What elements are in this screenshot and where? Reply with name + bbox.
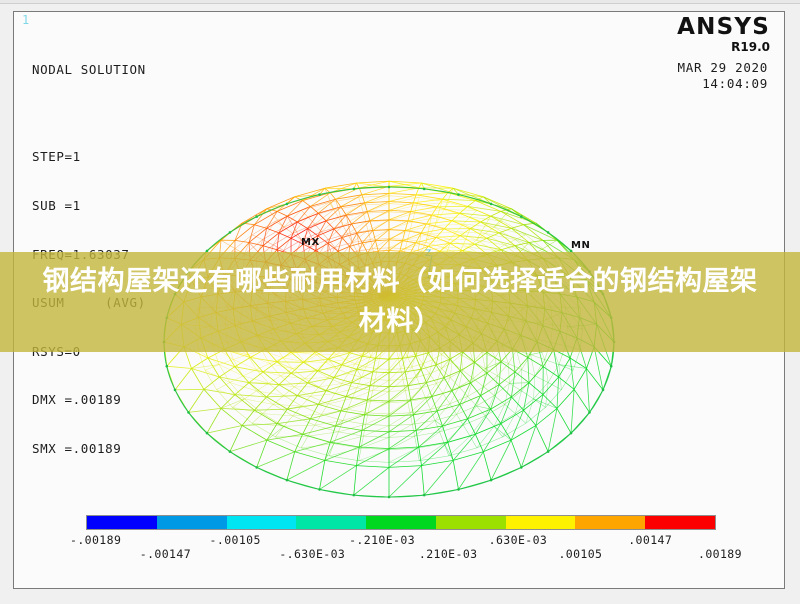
contour-legend: -.00189-.00105-.210E-03.630E-03.00147 -.… <box>86 515 726 560</box>
legend-band-8 <box>575 516 645 529</box>
plot-date: MAR 29 2020 <box>678 60 768 76</box>
legend-band-6 <box>436 516 506 529</box>
legend-labels-top: -.00189-.00105-.210E-03.630E-03.00147 <box>86 533 726 546</box>
legend-label-bottom-2: -.630E-03 <box>279 547 345 561</box>
legend-band-9 <box>645 516 715 529</box>
banner-title-text: 钢结构屋架还有哪些耐用材料（如何选择适合的钢结构屋架材料） <box>30 262 770 342</box>
legend-label-top-1: -.00189 <box>70 533 121 547</box>
legend-band-5 <box>366 516 436 529</box>
legend-labels-bottom: -.00147-.630E-03.210E-03.00105.00189 <box>86 547 726 560</box>
plot-index-label: 1 <box>22 14 29 26</box>
plot-time: 14:04:09 <box>678 76 768 92</box>
legend-label-bottom-4: .00105 <box>558 547 602 561</box>
legend-label-top-3: -.210E-03 <box>349 533 415 547</box>
ansys-wordmark: ANSYS <box>677 16 770 39</box>
ansys-logo: ANSYS R19.0 <box>677 16 770 54</box>
legend-band-1 <box>87 516 157 529</box>
max-node-label: MX <box>301 237 320 248</box>
legend-label-bottom-5: .00189 <box>698 547 742 561</box>
overlay-title-banner: 钢结构屋架还有哪些耐用材料（如何选择适合的钢结构屋架材料） <box>0 252 800 352</box>
legend-label-bottom-3: .210E-03 <box>419 547 478 561</box>
info-title: NODAL SOLUTION <box>32 62 146 78</box>
legend-band-2 <box>157 516 227 529</box>
info-line-sub: SUB =1 <box>32 198 146 214</box>
legend-label-bottom-1: -.00147 <box>140 547 191 561</box>
legend-color-bar <box>86 515 716 530</box>
top-divider-line <box>0 3 800 4</box>
info-line-step: STEP=1 <box>32 149 146 165</box>
ansys-revision: R19.0 <box>677 40 770 54</box>
legend-label-top-2: -.00105 <box>210 533 261 547</box>
legend-band-7 <box>506 516 576 529</box>
min-node-label: MN <box>571 240 590 251</box>
legend-band-4 <box>296 516 366 529</box>
info-line-smx: SMX =.00189 <box>32 441 146 457</box>
legend-label-top-5: .00147 <box>628 533 672 547</box>
ansys-screenshot: 1 NODAL SOLUTION STEP=1 SUB =1 FREQ=1.63… <box>0 0 800 604</box>
legend-band-3 <box>227 516 297 529</box>
info-line-dmx: DMX =.00189 <box>32 392 146 408</box>
legend-label-top-4: .630E-03 <box>489 533 548 547</box>
timestamp-block: MAR 29 2020 14:04:09 <box>678 60 768 92</box>
